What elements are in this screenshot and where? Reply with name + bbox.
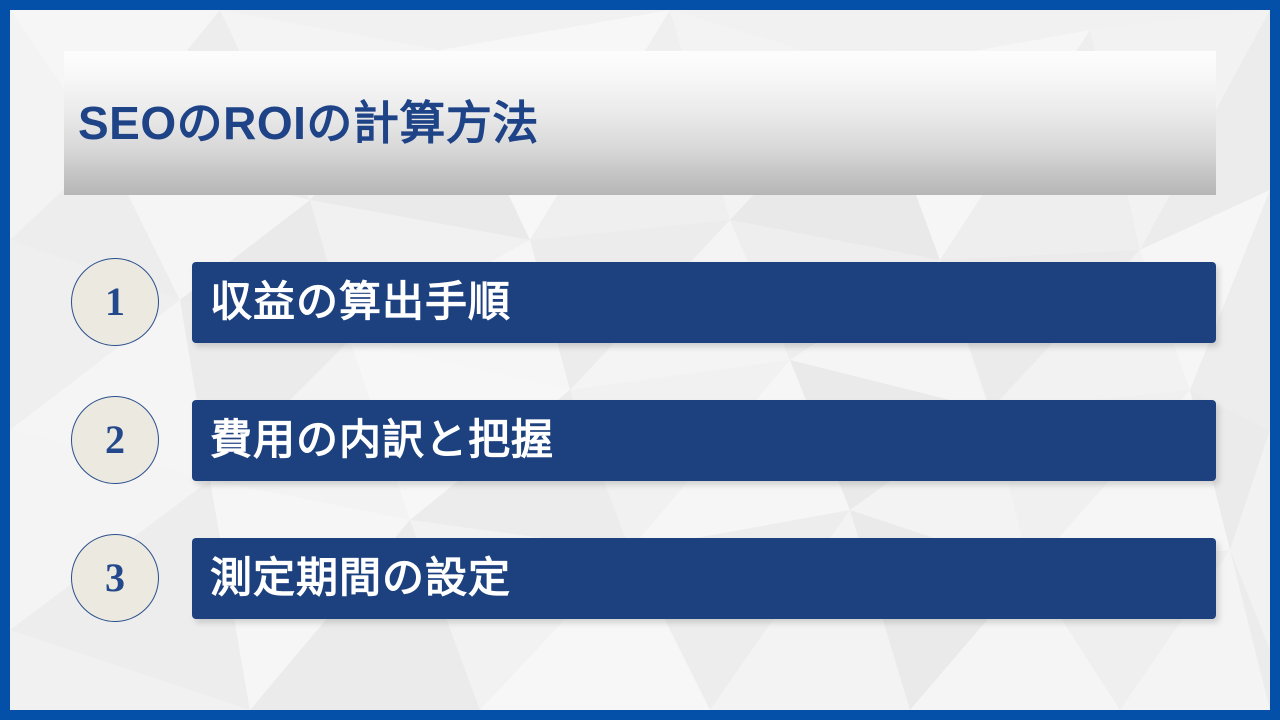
list-item: 3 測定期間の設定 bbox=[10, 538, 1270, 619]
number-badge-1: 1 bbox=[71, 258, 159, 346]
number-badge-2: 2 bbox=[71, 396, 159, 484]
number-badge-label: 3 bbox=[105, 558, 125, 598]
slide-root: SEOのROIの計算方法 1 収益の算出手順 2 費用の内訳と把握 3 測定期間 bbox=[0, 0, 1280, 720]
list-item-label: 収益の算出手順 bbox=[210, 280, 511, 324]
list-item: 1 収益の算出手順 bbox=[10, 262, 1270, 343]
number-badge-3: 3 bbox=[71, 534, 159, 622]
number-badge-label: 1 bbox=[105, 282, 125, 322]
list-item-bar-1[interactable]: 収益の算出手順 bbox=[192, 262, 1216, 343]
page-title: SEOのROIの計算方法 bbox=[78, 98, 539, 149]
list-item-bar-2[interactable]: 費用の内訳と把握 bbox=[192, 400, 1216, 481]
list-item-bar-3[interactable]: 測定期間の設定 bbox=[192, 538, 1216, 619]
list-item: 2 費用の内訳と把握 bbox=[10, 400, 1270, 481]
number-badge-label: 2 bbox=[105, 420, 125, 460]
title-banner: SEOのROIの計算方法 bbox=[64, 51, 1216, 195]
list-item-label: 測定期間の設定 bbox=[210, 556, 511, 600]
numbered-list: 1 収益の算出手順 2 費用の内訳と把握 3 測定期間の設定 bbox=[10, 262, 1270, 619]
list-item-label: 費用の内訳と把握 bbox=[210, 418, 554, 462]
